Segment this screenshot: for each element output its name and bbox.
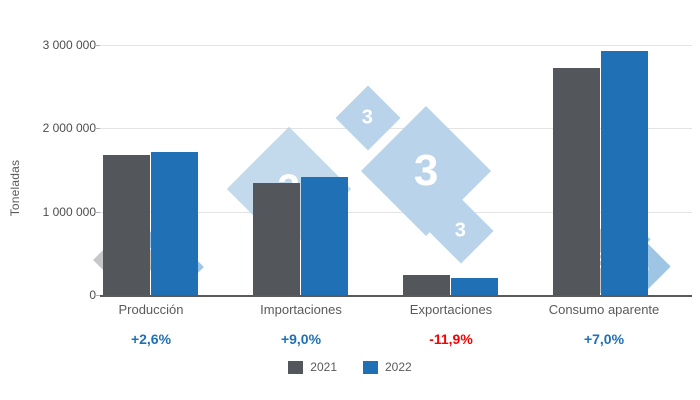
legend-item-2022[interactable]: 2022 bbox=[363, 360, 412, 374]
bar-exportaciones-2022[interactable] bbox=[451, 278, 498, 295]
bar-consumo-aparente-2022[interactable] bbox=[601, 51, 648, 295]
category-label-produccion: Producción bbox=[75, 302, 227, 317]
legend-item-2021[interactable]: 2021 bbox=[288, 360, 337, 374]
bar-produccion-2022[interactable] bbox=[151, 152, 198, 295]
category-label-importaciones: Importaciones bbox=[225, 302, 377, 317]
legend-label-2021: 2021 bbox=[310, 360, 337, 374]
annotation-exportaciones-change: -11,9% bbox=[375, 331, 527, 347]
bar-consumo-aparente-2021[interactable] bbox=[553, 68, 600, 295]
annotation-consumo-aparente-change: +7,0% bbox=[524, 331, 684, 347]
legend-swatch-2021 bbox=[288, 361, 303, 374]
legend: 2021 2022 bbox=[0, 360, 700, 374]
x-axis-line bbox=[100, 295, 692, 297]
bar-exportaciones-2021[interactable] bbox=[403, 275, 450, 295]
annotation-produccion-change: +2,6% bbox=[75, 331, 227, 347]
category-label-consumo-aparente: Consumo aparente bbox=[524, 302, 684, 317]
bar-importaciones-2022[interactable] bbox=[301, 177, 348, 295]
legend-swatch-2022 bbox=[363, 361, 378, 374]
bar-chart: 3 000 000 2 000 000 1 000 000 0 Tonelada… bbox=[0, 0, 700, 400]
legend-label-2022: 2022 bbox=[385, 360, 412, 374]
category-label-exportaciones: Exportaciones bbox=[375, 302, 527, 317]
bar-produccion-2021[interactable] bbox=[103, 155, 150, 295]
annotation-importaciones-change: +9,0% bbox=[225, 331, 377, 347]
bar-importaciones-2021[interactable] bbox=[253, 183, 300, 295]
